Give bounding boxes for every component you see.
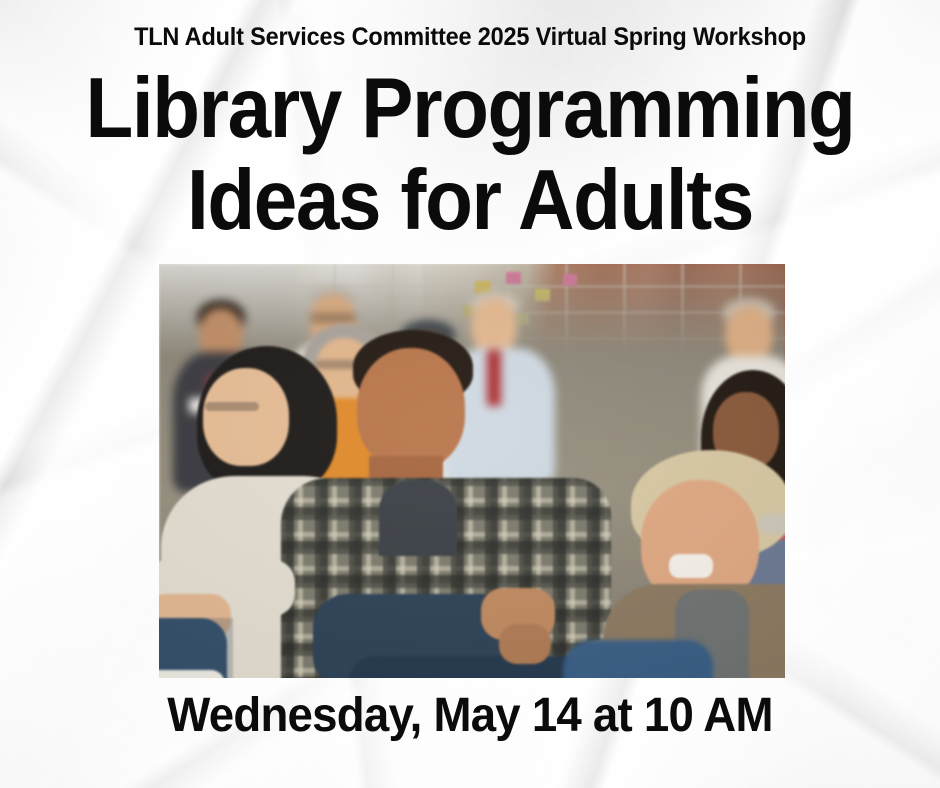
poster-canvas: TLN Adult Services Committee 2025 Virtua…	[0, 0, 940, 788]
workshop-eyebrow-text: TLN Adult Services Committee 2025 Virtua…	[28, 25, 912, 50]
audience-photo	[159, 264, 785, 678]
poster-title-line-1: Library Programming	[38, 66, 903, 151]
photo-chair-right	[759, 514, 785, 624]
poster-title-line-2: Ideas for Adults	[38, 158, 903, 243]
photo-person-bottom-left	[159, 560, 325, 678]
event-date-text: Wednesday, May 14 at 10 AM	[24, 692, 917, 740]
photo-person-bottom-center	[563, 640, 713, 678]
